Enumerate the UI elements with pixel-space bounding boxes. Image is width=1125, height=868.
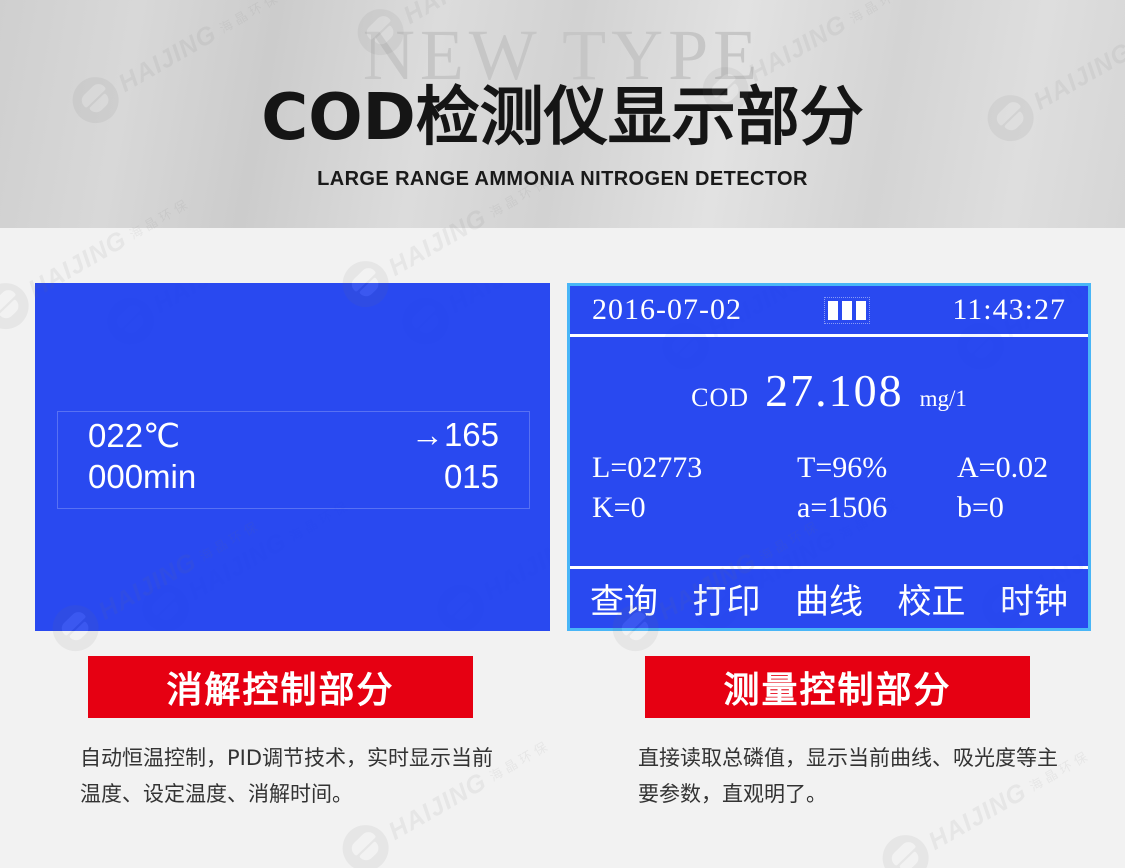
parameter-grid: L=02773 T=96% A=0.02 K=0 a=1506 b=0 (570, 451, 1088, 531)
battery-three-bars-icon (824, 297, 870, 324)
elapsed-time-value: 000min (88, 458, 196, 496)
temperature-row: 022℃ →165 (58, 416, 529, 455)
measurement-control-screen[interactable]: HAIJING 海晶环保 HAIJING 海晶环保 HAIJING 海晶环保 (567, 283, 1091, 631)
menu-divider (570, 566, 1088, 569)
digestion-control-screen[interactable]: HAIJING 海晶环保 HAIJING 海晶环保 HAIJING 海晶环保 H… (35, 283, 550, 631)
time-display: 11:43:27 (952, 293, 1066, 327)
brand-watermark: HAIJING 海晶环保 (99, 283, 325, 353)
menu-item-curve[interactable]: 曲线 (795, 574, 863, 623)
watermark-brand-text: HAIJING (443, 283, 550, 319)
haijing-logo-icon (334, 817, 397, 868)
date-display: 2016-07-02 (592, 293, 742, 327)
battery-bar (828, 301, 838, 320)
content-area: HAIJING 海晶环保 HAIJING 海晶环保 HAIJING 海晶环保 H… (0, 228, 1125, 868)
param-K: K=0 (592, 491, 797, 525)
lcd-soft-menu: 查询 打印 曲线 校正 时钟 (570, 574, 1088, 623)
lcd-status-bar: 2016-07-02 11:43:27 (570, 286, 1088, 334)
current-temperature-value: 022℃ (88, 416, 180, 455)
page-header: NEW TYPE COD检测仪显示部分 LARGE RANGE AMMONIA … (0, 0, 1125, 228)
target-temperature-value: →165 (411, 416, 499, 455)
haijing-logo-icon (429, 577, 492, 631)
cod-reading-value: 27.108 (765, 364, 904, 417)
cod-reading-label: COD (691, 383, 749, 413)
haijing-logo-icon (99, 290, 162, 353)
brand-watermark: HAIJING 海晶环保 (394, 283, 550, 353)
haijing-logo-icon (874, 827, 937, 868)
param-T: T=96% (797, 451, 957, 485)
cod-reading-unit: mg/1 (920, 386, 967, 412)
page-root: NEW TYPE COD检测仪显示部分 LARGE RANGE AMMONIA … (0, 0, 1125, 868)
watermark-brand-text: HAIJING (478, 527, 550, 606)
time-row: 000min 015 (58, 458, 529, 496)
target-time-value: 015 (444, 458, 499, 496)
digestion-control-caption: 自动恒温控制，PID调节技术，实时显示当前温度、设定温度、消解时间。 (80, 740, 500, 812)
watermark-brand-text: HAIJING (183, 527, 291, 606)
cod-reading: COD 27.108 mg/1 (570, 364, 1088, 417)
status-divider (570, 334, 1088, 337)
param-A: A=0.02 (957, 451, 1066, 485)
digestion-values-box: 022℃ →165 000min 015 (57, 411, 530, 509)
parameter-row: L=02773 T=96% A=0.02 (592, 451, 1066, 485)
haijing-logo-icon (0, 275, 37, 338)
haijing-logo-icon (134, 577, 197, 631)
watermark-brand-text: HAIJING (148, 283, 256, 319)
param-a: a=1506 (797, 491, 957, 525)
measurement-control-badge: 测量控制部分 (645, 656, 1030, 718)
menu-item-clock[interactable]: 时钟 (1000, 574, 1068, 623)
parameter-row: K=0 a=1506 b=0 (592, 491, 1066, 525)
haijing-logo-icon (394, 290, 457, 353)
menu-item-calibrate[interactable]: 校正 (898, 574, 966, 623)
param-b: b=0 (957, 491, 1066, 525)
menu-item-query[interactable]: 查询 (590, 574, 658, 623)
battery-bar (856, 301, 866, 320)
param-L: L=02773 (592, 451, 797, 485)
battery-bar (842, 301, 852, 320)
page-title: COD检测仪显示部分 (0, 66, 1125, 158)
measurement-control-caption: 直接读取总磷值，显示当前曲线、吸光度等主要参数，直观明了。 (638, 740, 1058, 812)
menu-item-print[interactable]: 打印 (693, 574, 761, 623)
digestion-control-badge: 消解控制部分 (88, 656, 473, 718)
page-subtitle: LARGE RANGE AMMONIA NITROGEN DETECTOR (0, 168, 1125, 191)
